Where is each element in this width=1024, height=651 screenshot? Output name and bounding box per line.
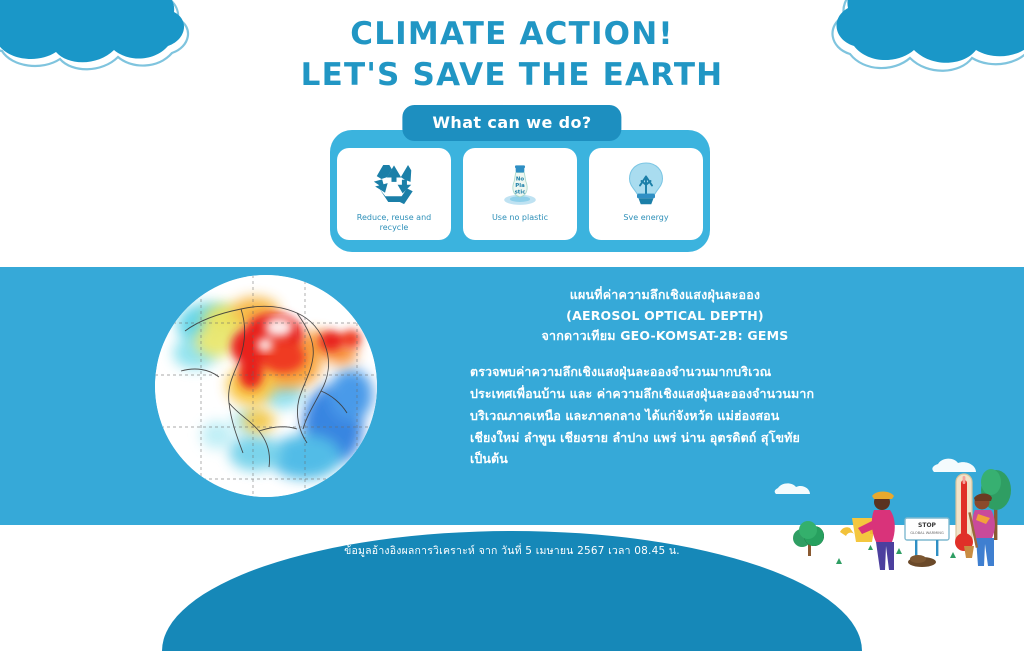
aerosol-optical-depth-map <box>155 275 377 497</box>
svg-text:GLOBAL WARMING: GLOBAL WARMING <box>910 531 944 535</box>
light-bulb-icon <box>625 156 667 212</box>
svg-text:stic: stic <box>515 189 526 195</box>
title-line-2: LET'S SAVE THE EARTH <box>0 55 1024 96</box>
svg-text:Pla: Pla <box>515 183 525 189</box>
aod-description-line-1: ตรวจพบค่าความลึกเชิงแสงฝุ่นละอองจำนวนมาก… <box>470 361 860 383</box>
action-cards-list: Reduce, reuse and recycle No Pla stic Us… <box>330 148 710 240</box>
aod-description-line-5: เป็นต้น <box>470 448 860 470</box>
aod-heading-line-1: แผนที่ค่าความลึกเชิงแสงฝุ่นละออง <box>470 285 860 306</box>
no-plastic-bottle-icon: No Pla stic <box>497 156 543 212</box>
action-card-save-energy[interactable]: Sve energy <box>589 148 703 240</box>
svg-text:No: No <box>516 176 524 182</box>
action-card-label: Reduce, reuse and recycle <box>337 213 451 233</box>
action-card-label: Sve energy <box>617 213 674 223</box>
actions-panel-header: What can we do? <box>402 105 621 141</box>
aod-description-line-3: บริเวณภาคเหนือ และภาคกลาง ได้แก่จังหวัด … <box>470 405 860 427</box>
aod-heading-line-3: จากดาวเทียม GEO-KOMSAT-2B: GEMS <box>470 326 860 347</box>
action-card-label: Use no plastic <box>486 213 554 223</box>
action-card-recycle[interactable]: Reduce, reuse and recycle <box>337 148 451 240</box>
recycle-icon <box>371 156 417 212</box>
aod-description: ตรวจพบค่าความลึกเชิงแสงฝุ่นละอองจำนวนมาก… <box>470 361 860 470</box>
page-title: CLIMATE ACTION! LET'S SAVE THE EARTH <box>0 14 1024 96</box>
aod-heading: แผนที่ค่าความลึกเชิงแสงฝุ่นละออง (AEROSO… <box>470 285 860 347</box>
action-card-no-plastic[interactable]: No Pla stic Use no plastic <box>463 148 577 240</box>
title-line-1: CLIMATE ACTION! <box>0 14 1024 55</box>
footer-source-text: ข้อมูลอ้างอิงผลการวิเคราะห์ จาก วันที่ 5… <box>0 542 1024 559</box>
aod-description-line-2: ประเทศเพื่อนบ้าน และ ค่าความลึกเชิงแสงฝุ… <box>470 383 860 405</box>
aod-info-column: แผนที่ค่าความลึกเชิงแสงฝุ่นละออง (AEROSO… <box>470 285 860 470</box>
aod-heading-line-2: (AEROSOL OPTICAL DEPTH) <box>470 306 860 327</box>
aod-description-line-4: เชียงใหม่ ลำพูน เชียงราย ลำปาง แพร่ น่าน… <box>470 427 860 449</box>
